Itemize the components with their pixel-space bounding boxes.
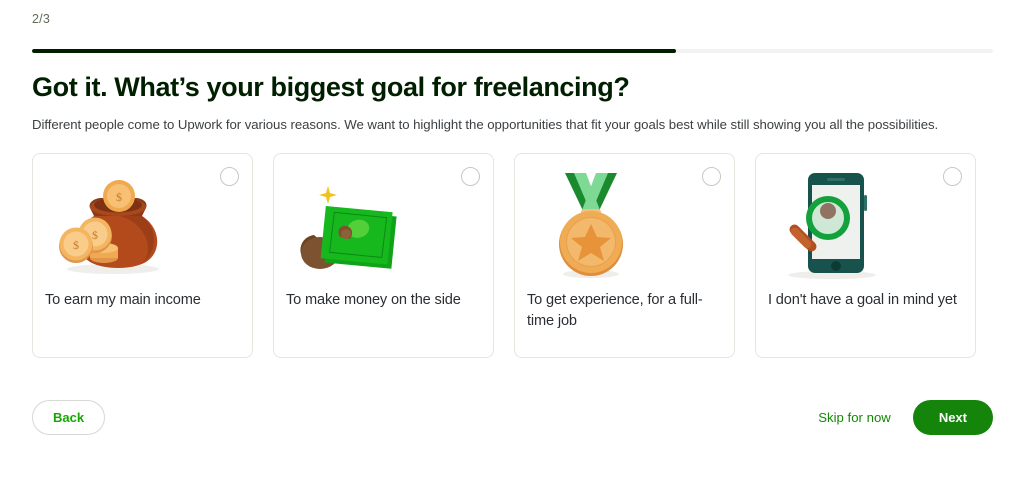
onboarding-page: 2/3 Got it. What’s your biggest goal for… xyxy=(0,0,1024,489)
phone-magnifier-person-icon xyxy=(756,162,975,287)
goal-card-earn-main-income[interactable]: $ $ xyxy=(32,153,253,358)
progress-bar-fill xyxy=(32,49,676,53)
next-button[interactable]: Next xyxy=(913,400,993,435)
svg-text:$: $ xyxy=(73,238,79,252)
goal-card-get-experience[interactable]: To get experience, for a full-time job xyxy=(514,153,735,358)
goal-card-label: To earn my main income xyxy=(45,290,240,311)
gold-medal-icon xyxy=(515,162,734,287)
goal-card-label: To make money on the side xyxy=(286,290,481,311)
money-bag-icon: $ $ xyxy=(33,162,252,287)
footer-actions: Back Skip for now Next xyxy=(32,400,993,435)
page-subtitle: Different people come to Upwork for vari… xyxy=(32,104,992,134)
footer-primary-actions: Skip for now Next xyxy=(818,400,993,435)
goal-card-label: I don't have a goal in mind yet xyxy=(768,290,963,311)
goal-card-label: To get experience, for a full-time job xyxy=(527,290,722,331)
goal-card-money-on-the-side[interactable]: To make money on the side xyxy=(273,153,494,358)
goal-options-list: $ $ xyxy=(32,153,992,358)
svg-text:$: $ xyxy=(116,190,122,204)
progress-bar xyxy=(32,49,993,53)
skip-for-now-link[interactable]: Skip for now xyxy=(818,410,891,425)
goal-card-no-goal-yet[interactable]: I don't have a goal in mind yet xyxy=(755,153,976,358)
hand-holding-banknote-icon xyxy=(274,162,493,287)
svg-text:$: $ xyxy=(92,228,98,242)
page-title: Got it. What’s your biggest goal for fre… xyxy=(32,53,992,105)
back-button[interactable]: Back xyxy=(32,400,105,435)
step-counter: 2/3 xyxy=(32,0,992,26)
